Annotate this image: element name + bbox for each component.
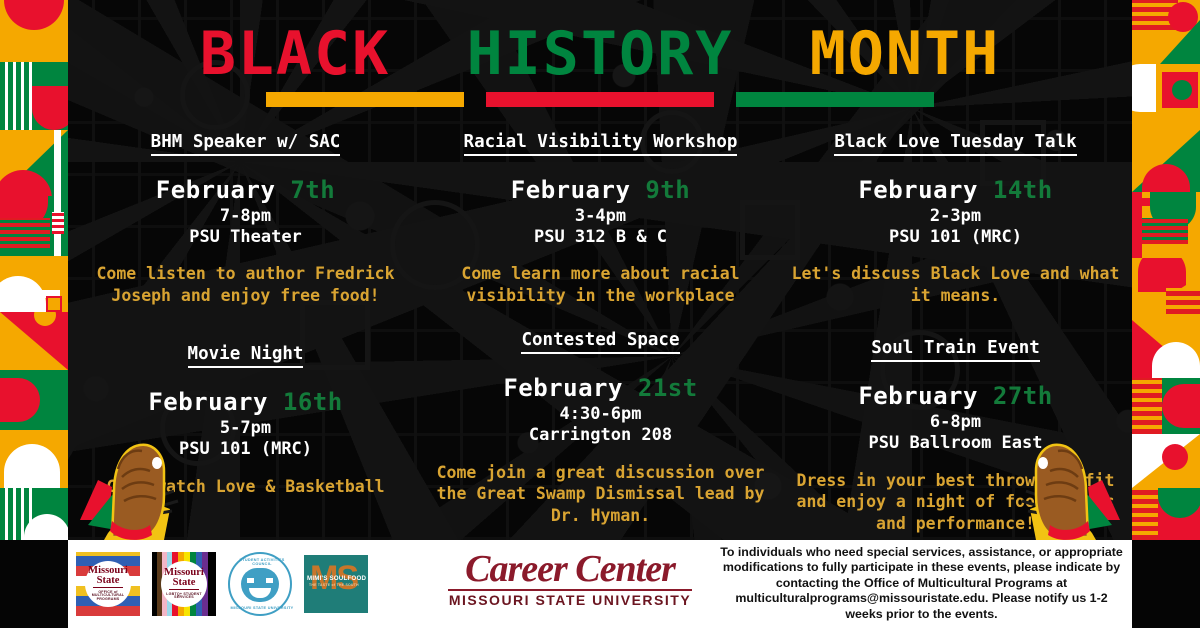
event-date: February 27th [778, 382, 1133, 410]
event-card: Racial Visibility Workshop February 9th … [423, 132, 778, 306]
raised-fist-icon-left [78, 425, 188, 540]
logo-name: MIMI'S SOULFOOD [307, 575, 366, 582]
logo-mimis-soulfood: MS MIMI'S SOULFOOD THE TASTE of THE SOUT… [304, 555, 368, 613]
event-date: February 14th [778, 176, 1133, 204]
event-month: February [511, 176, 631, 204]
event-title: BHM Speaker w/ SAC [151, 132, 341, 156]
event-title: Black Love Tuesday Talk [834, 132, 1076, 156]
event-month: February [148, 388, 268, 416]
logo-subtitle: OFFICE of MULTICULTURAL PROGRAMS [85, 591, 131, 603]
smile-icon [249, 588, 271, 598]
event-ordinal: 27th [993, 382, 1053, 410]
events-column-2: Racial Visibility Workshop February 9th … [423, 132, 778, 530]
event-time: 2-3pm [778, 206, 1133, 227]
sponsor-logos: Missouri State OFFICE of MULTICULTURAL P… [76, 546, 368, 622]
career-center-word1: Career [465, 548, 567, 590]
event-date: February 16th [68, 388, 423, 416]
title-bar-green [736, 92, 934, 107]
event-ordinal: 21st [638, 374, 698, 402]
event-time: 3-4pm [423, 206, 778, 227]
footer-bar: Missouri State OFFICE of MULTICULTURAL P… [68, 540, 1132, 628]
event-title: Contested Space [521, 330, 679, 354]
logo-student-activities-council: STUDENT ACTIVITIES COUNCIL MISSOURI STAT… [228, 552, 292, 616]
event-location: Carrington 208 [423, 425, 778, 446]
page-title: BLACK HISTORY MONTH [0, 24, 1200, 84]
event-date: February 9th [423, 176, 778, 204]
title-underline-bars [0, 92, 1200, 107]
logo-subtitle: THE TASTE of THE SOUTH [309, 583, 359, 587]
career-center-subtitle: MISSOURI STATE UNIVERSITY [420, 592, 720, 608]
event-month: February [858, 176, 978, 204]
event-date: February 7th [68, 176, 423, 204]
event-description: Come listen to author Fredrick Joseph an… [68, 263, 423, 306]
title-word-month: MONTH [810, 19, 1001, 89]
logo-seal-top-text: STUDENT ACTIVITIES COUNCIL [230, 558, 294, 566]
raised-fist-icon-right [1012, 425, 1122, 540]
event-ordinal: 16th [283, 388, 343, 416]
event-card: Contested Space February 21st 4:30-6pm C… [423, 330, 778, 526]
event-month: February [858, 382, 978, 410]
event-description: Come learn more about racial visibility … [423, 263, 778, 306]
event-title: Movie Night [188, 344, 304, 368]
logo-multicultural-programs: Missouri State OFFICE of MULTICULTURAL P… [76, 552, 140, 616]
event-date: February 21st [423, 374, 778, 402]
logo-subtitle: LGBTQ+ STUDENT SERVICES [161, 593, 207, 601]
event-month: February [503, 374, 623, 402]
event-month: February [156, 176, 276, 204]
logo-seal-bottom-text: MISSOURI STATE UNIVERSITY [230, 606, 294, 610]
event-description: Come join a great discussion over the Gr… [423, 462, 778, 526]
career-center-word2: Center [575, 548, 675, 590]
events-grid: BHM Speaker w/ SAC February 7th 7-8pm PS… [68, 132, 1132, 532]
title-bar-amber [266, 92, 464, 107]
event-ordinal: 7th [290, 176, 335, 204]
event-title: Racial Visibility Workshop [464, 132, 738, 156]
title-bar-red [486, 92, 714, 107]
event-card: Black Love Tuesday Talk February 14th 2-… [778, 132, 1133, 306]
glasses-icon [264, 576, 275, 585]
event-location: PSU 101 (MRC) [778, 227, 1133, 248]
event-card: BHM Speaker w/ SAC February 7th 7-8pm PS… [68, 132, 423, 306]
event-time: 4:30-6pm [423, 404, 778, 425]
glasses-icon [245, 576, 256, 585]
logo-career-center: Career Center MISSOURI STATE UNIVERSITY [420, 550, 720, 608]
black-history-month-poster: BLACK HISTORY MONTH BHM Speaker w/ SAC F… [0, 0, 1200, 628]
title-word-black: BLACK [200, 19, 391, 89]
event-ordinal: 14th [993, 176, 1053, 204]
event-title: Soul Train Event [871, 338, 1040, 362]
accessibility-notice: To individuals who need special services… [719, 545, 1124, 622]
logo-name: Missouri State [161, 568, 207, 588]
logo-name: Missouri State [85, 566, 131, 586]
logo-lgbtq-student-services: Missouri State LGBTQ+ STUDENT SERVICES [152, 552, 216, 616]
event-location: PSU 312 B & C [423, 227, 778, 248]
title-word-history: HISTORY [467, 19, 734, 89]
event-time: 7-8pm [68, 206, 423, 227]
event-ordinal: 9th [645, 176, 690, 204]
event-location: PSU Theater [68, 227, 423, 248]
event-description: Let's discuss Black Love and what it mea… [778, 263, 1133, 306]
